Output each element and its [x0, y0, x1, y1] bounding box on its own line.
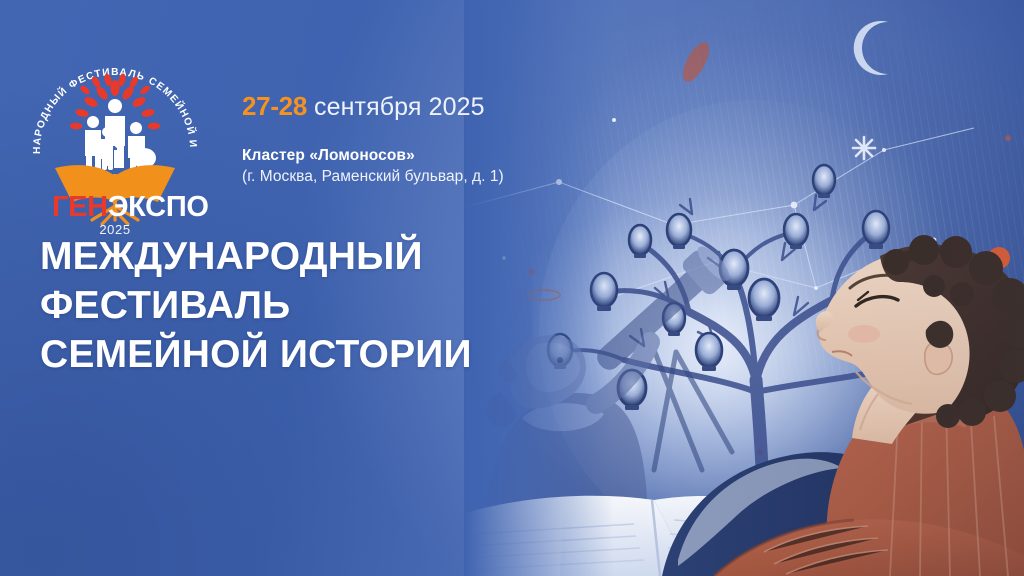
event-date: 27-28 сентября 2025 [242, 92, 672, 122]
event-date-number: 27-28 [242, 91, 307, 121]
svg-text:ГЕНЭКСПО: ГЕНЭКСПО [52, 191, 208, 223]
event-info: 27-28 сентября 2025 Кластер «Ломоносов» … [242, 92, 672, 186]
event-date-rest: сентября 2025 [314, 93, 485, 121]
logo-family [85, 99, 156, 170]
logo-word-expo: ЭКСПО [108, 191, 208, 223]
event-address: (г. Москва, Раменский бульвар, д. 1) [242, 168, 672, 186]
page-title: МЕЖДУНАРОДНЫЙ ФЕСТИВАЛЬ СЕМЕЙНОЙ ИСТОРИИ [40, 232, 560, 379]
event-venue: Кластер «Ломоносов» [242, 147, 672, 165]
festival-poster: МЕЖДУНАРОДНЫЙ ФЕСТИВАЛЬ СЕМЕЙНОЙ ИСТОРИИ [0, 0, 1024, 576]
genexpo-logo: МЕЖДУНАРОДНЫЙ ФЕСТИВАЛЬ СЕМЕЙНОЙ ИСТОРИИ [22, 44, 208, 234]
headline-line-2: ФЕСТИВАЛЬ [40, 281, 560, 330]
headline-line-3: СЕМЕЙНОЙ ИСТОРИИ [40, 330, 560, 379]
logo-word-gen: ГЕН [52, 191, 108, 223]
headline-line-1: МЕЖДУНАРОДНЫЙ [40, 232, 560, 281]
